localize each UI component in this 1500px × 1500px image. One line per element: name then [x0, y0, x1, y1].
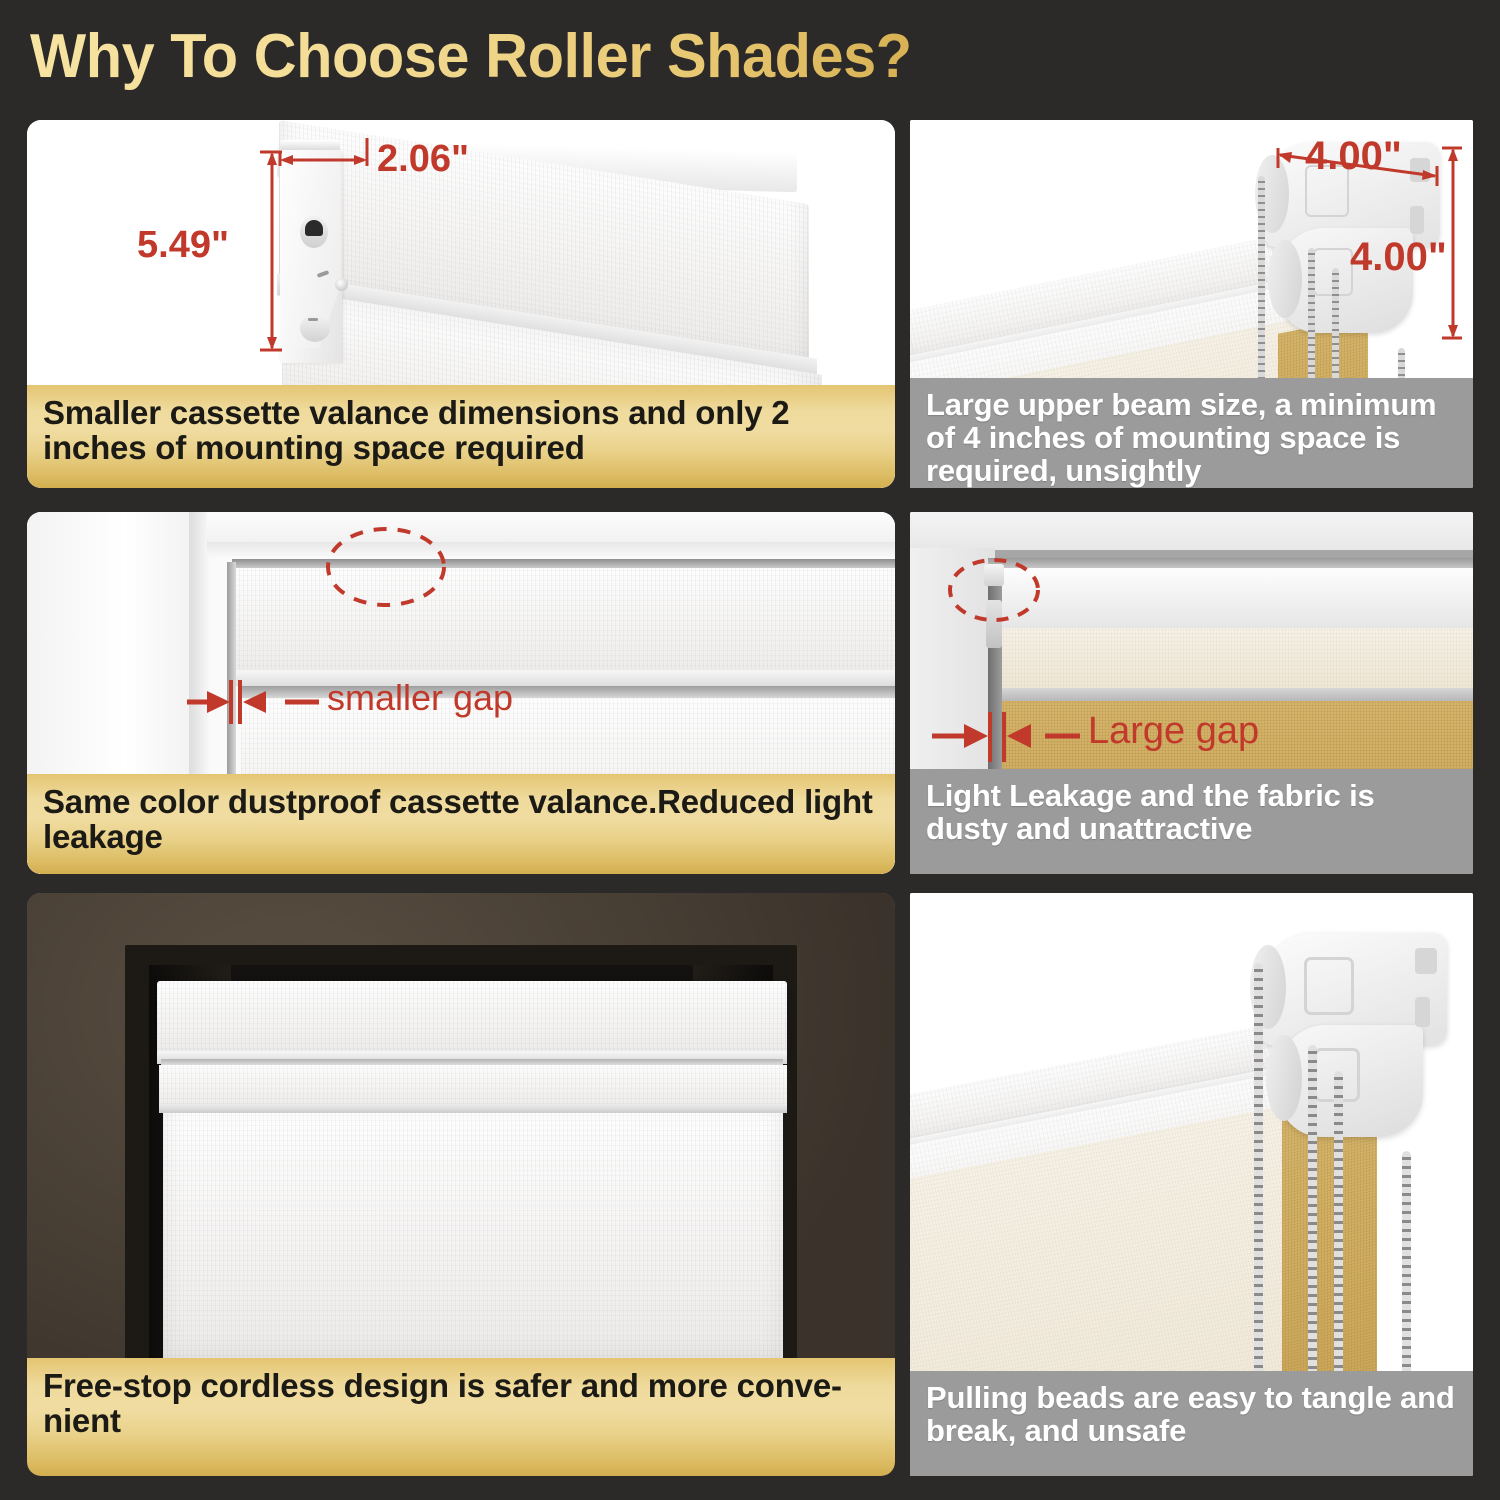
gap-callout-label: smaller gap — [327, 677, 513, 719]
panel-caption: Pulling beads are easy to tangle and bre… — [910, 1371, 1473, 1476]
panel-large-upper-beam: 4.00" 4.00" Large upper beam size, a min… — [910, 120, 1473, 488]
panel-large-gap: Large gap Light Leakage and the fabric i… — [910, 512, 1473, 874]
width-dimension-label: 4.00" — [1305, 134, 1402, 179]
width-dimension-label: 2.06" — [377, 138, 469, 181]
panel-caption: Large upper beam size, a minimum of 4 in… — [910, 378, 1473, 488]
height-dimension-label: 5.49" — [137, 224, 229, 267]
infographic-page: Why To Choose Roller Shades? — [0, 0, 1500, 1500]
panel-smaller-gap: smaller gap Same color dustproof cassett… — [27, 512, 895, 874]
panel-caption: Smaller cassette valance dimensions and … — [27, 385, 895, 488]
panel-cordless-design: Free-stop cordless design is safer and m… — [27, 893, 895, 1476]
panel-caption: Free-stop cordless design is safer and m… — [27, 1358, 895, 1476]
panel-pulling-beads: Pulling beads are easy to tangle and bre… — [910, 893, 1473, 1476]
panel-caption: Light Leakage and the fabric is dusty an… — [910, 769, 1473, 874]
gap-callout-label: Large gap — [1088, 710, 1259, 753]
panel-caption: Same color dustproof cassette valance.Re… — [27, 774, 895, 874]
height-dimension-label: 4.00" — [1350, 235, 1447, 280]
panel-cassette-dimensions: 2.06" 5.49" Smaller cassette valance dim… — [27, 120, 895, 488]
page-title: Why To Choose Roller Shades? — [30, 18, 1182, 96]
